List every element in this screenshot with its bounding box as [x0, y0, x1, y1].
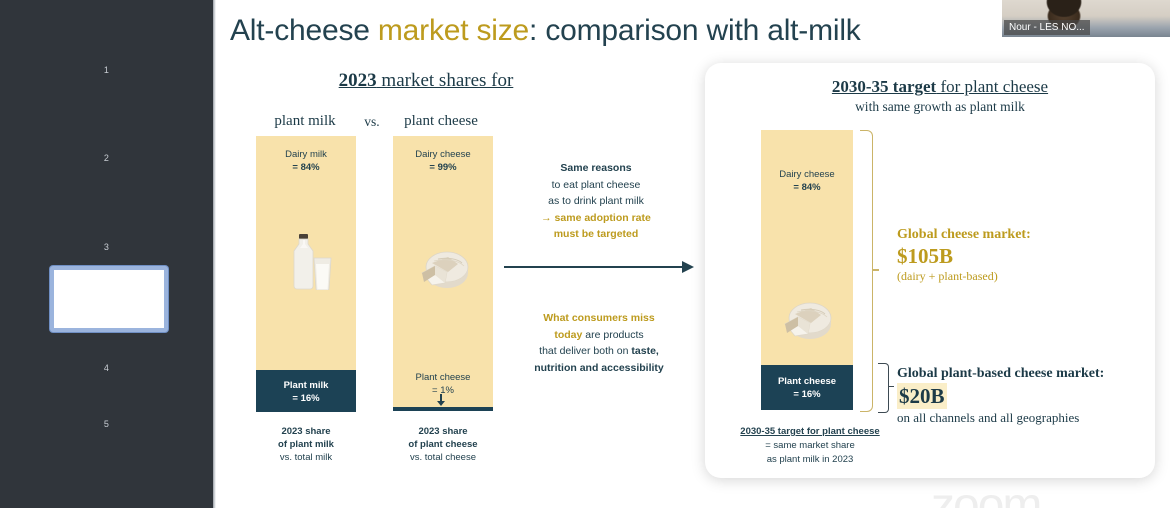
- column-label-plant-cheese: plant cheese: [376, 113, 506, 130]
- right-panel-subheading: with same growth as plant milk: [765, 99, 1115, 115]
- column-label-plant-cheese-text: plant cheese: [404, 113, 478, 129]
- mid2-line3b: taste,: [631, 345, 658, 357]
- video-bottom-bar: [1002, 37, 1170, 40]
- annot-total-note: (dairy + plant-based): [897, 268, 1147, 284]
- annotation-total-cheese-market: Global cheese market: $105B (dairy + pla…: [897, 226, 1147, 284]
- bar-target-plant-label: Plant cheese: [761, 375, 853, 388]
- right-panel-caption: 2030-35 target for plant cheese = same m…: [715, 425, 905, 467]
- caption-milk-l1: 2023 share: [281, 426, 330, 437]
- annot-plant-note: on all channels and all geographies: [897, 409, 1157, 426]
- right-panel-heading: 2030-35 target for plant cheese: [765, 77, 1115, 97]
- sidebar-thumb-4[interactable]: 4: [0, 291, 213, 379]
- bar-plant-cheese-value: = 1%: [393, 384, 493, 397]
- mid2-line2: are products: [582, 329, 643, 341]
- bar-target-plant-cheese: Plant cheese = 16%: [761, 365, 853, 410]
- left-heading-rest: market shares for: [377, 70, 514, 91]
- middle-text-block-1: Same reasons to eat plant cheese as to d…: [506, 160, 686, 243]
- annot-total-value: $105B: [897, 244, 1147, 268]
- bar-dairy-milk-value: = 84%: [256, 161, 356, 174]
- sidebar-thumb-5[interactable]: 5: [0, 380, 213, 468]
- caption-plant-cheese: 2023 share of plant cheese vs. total che…: [381, 425, 505, 464]
- middle-text-block-2: What consumers miss today are products t…: [504, 310, 694, 376]
- mid1-line4: → same adoption rate: [541, 212, 651, 224]
- thumb-number-4: 4: [104, 363, 109, 373]
- thumb-number-2: 2: [104, 153, 109, 163]
- cheese-wheel-icon: [416, 245, 472, 293]
- caption-milk-l3: vs. total milk: [280, 452, 332, 463]
- title-part-2: : comparison with alt-milk: [529, 14, 861, 47]
- bar-dairy-cheese-value: = 99%: [393, 161, 493, 174]
- caption-cheese-l3: vs. total cheese: [410, 452, 476, 463]
- video-participant-name: Nour - LES NO...: [1004, 20, 1090, 35]
- thumb-number-5: 5: [104, 419, 109, 429]
- cheese-wheel-icon-target: [779, 296, 835, 344]
- cheese-icon-svg-2: [779, 296, 835, 344]
- bracket-total-market-tick: [872, 269, 879, 271]
- bar-dairy-milk-label: Dairy milk: [256, 148, 356, 161]
- milk-bottle-and-glass-icon: [286, 234, 340, 290]
- mid1-line1: Same reasons: [560, 162, 631, 174]
- zoom-watermark: zoom: [931, 478, 1040, 508]
- mid1-line3: as to drink plant milk: [548, 195, 644, 207]
- bar-plant-cheese-sliver: [393, 407, 493, 411]
- bar-dairy-cheese-label: Dairy cheese: [393, 148, 493, 161]
- flow-arrow-head-icon: [682, 261, 694, 273]
- page-title: Alt-cheese market size: comparison with …: [230, 14, 861, 48]
- annot-plant-value-wrap: $20B: [897, 383, 1157, 409]
- sidebar-thumb-1[interactable]: 1: [0, 26, 213, 114]
- title-highlight: market size: [378, 14, 529, 47]
- video-thumbnail-overlay[interactable]: Nour - LES NO...: [1002, 0, 1170, 40]
- caption-plant-milk: 2023 share of plant milk vs. total milk: [246, 425, 366, 464]
- annot-plant-title: Global plant-based cheese market:: [897, 365, 1157, 383]
- mid2-line1a: What consumers miss: [543, 312, 654, 324]
- bar-plant-cheese-label: Plant cheese: [393, 371, 493, 384]
- right-heading-bold: 2030-35 target: [832, 77, 936, 96]
- mid2-line4: nutrition and accessibility: [534, 362, 664, 374]
- bracket-plant-market-tick: [888, 386, 894, 387]
- cheese-icon-svg: [416, 245, 472, 293]
- thumb-number-1: 1: [104, 65, 109, 75]
- right-panel-card: 2030-35 target for plant cheese with sam…: [705, 63, 1155, 478]
- mid2-line3a: that deliver both on: [539, 345, 631, 357]
- right-caption-l1: 2030-35 target for plant cheese: [740, 426, 879, 437]
- bracket-total-market: [860, 130, 873, 412]
- bar-target-dairy-value: = 84%: [761, 181, 853, 194]
- caption-cheese-l2: of plant cheese: [408, 439, 477, 450]
- milk-icon-svg: [286, 234, 340, 290]
- bracket-plant-market: [878, 363, 889, 413]
- down-arrow-head-icon: [437, 401, 445, 406]
- right-heading-rest: for plant cheese: [936, 77, 1048, 96]
- mid1-line5: must be targeted: [554, 228, 639, 240]
- left-heading-bold: 2023: [339, 70, 377, 91]
- bar-plant-milk: Plant milk = 16%: [256, 370, 356, 412]
- left-panel-heading: 2023 market shares for: [266, 70, 586, 92]
- right-caption-l2: = same market share: [765, 440, 855, 451]
- slide-thumbnail-sidebar[interactable]: 1 2 3 4 5: [0, 0, 214, 508]
- mid1-line2: to eat plant cheese: [552, 179, 641, 191]
- right-caption-l3: as plant milk in 2023: [767, 454, 854, 465]
- caption-cheese-l1: 2023 share: [418, 426, 467, 437]
- slide-canvas: Alt-cheese market size: comparison with …: [216, 0, 1170, 508]
- bar-target-dairy-label: Dairy cheese: [761, 168, 853, 181]
- sidebar-thumb-2[interactable]: 2: [0, 114, 213, 202]
- title-part-1: Alt-cheese: [230, 14, 378, 47]
- bar-plant-milk-value: = 16%: [256, 392, 356, 405]
- caption-milk-l2: of plant milk: [278, 439, 334, 450]
- annotation-plant-cheese-market: Global plant-based cheese market: $20B o…: [897, 365, 1157, 426]
- bar-target-plant-value: = 16%: [761, 388, 853, 401]
- mid2-line1b: today: [554, 329, 582, 341]
- bar-plant-milk-label: Plant milk: [256, 379, 356, 392]
- annot-total-title: Global cheese market:: [897, 226, 1147, 244]
- flow-arrow-line: [504, 266, 684, 268]
- thumb-number-3: 3: [104, 242, 109, 252]
- annot-plant-value: $20B: [897, 383, 947, 409]
